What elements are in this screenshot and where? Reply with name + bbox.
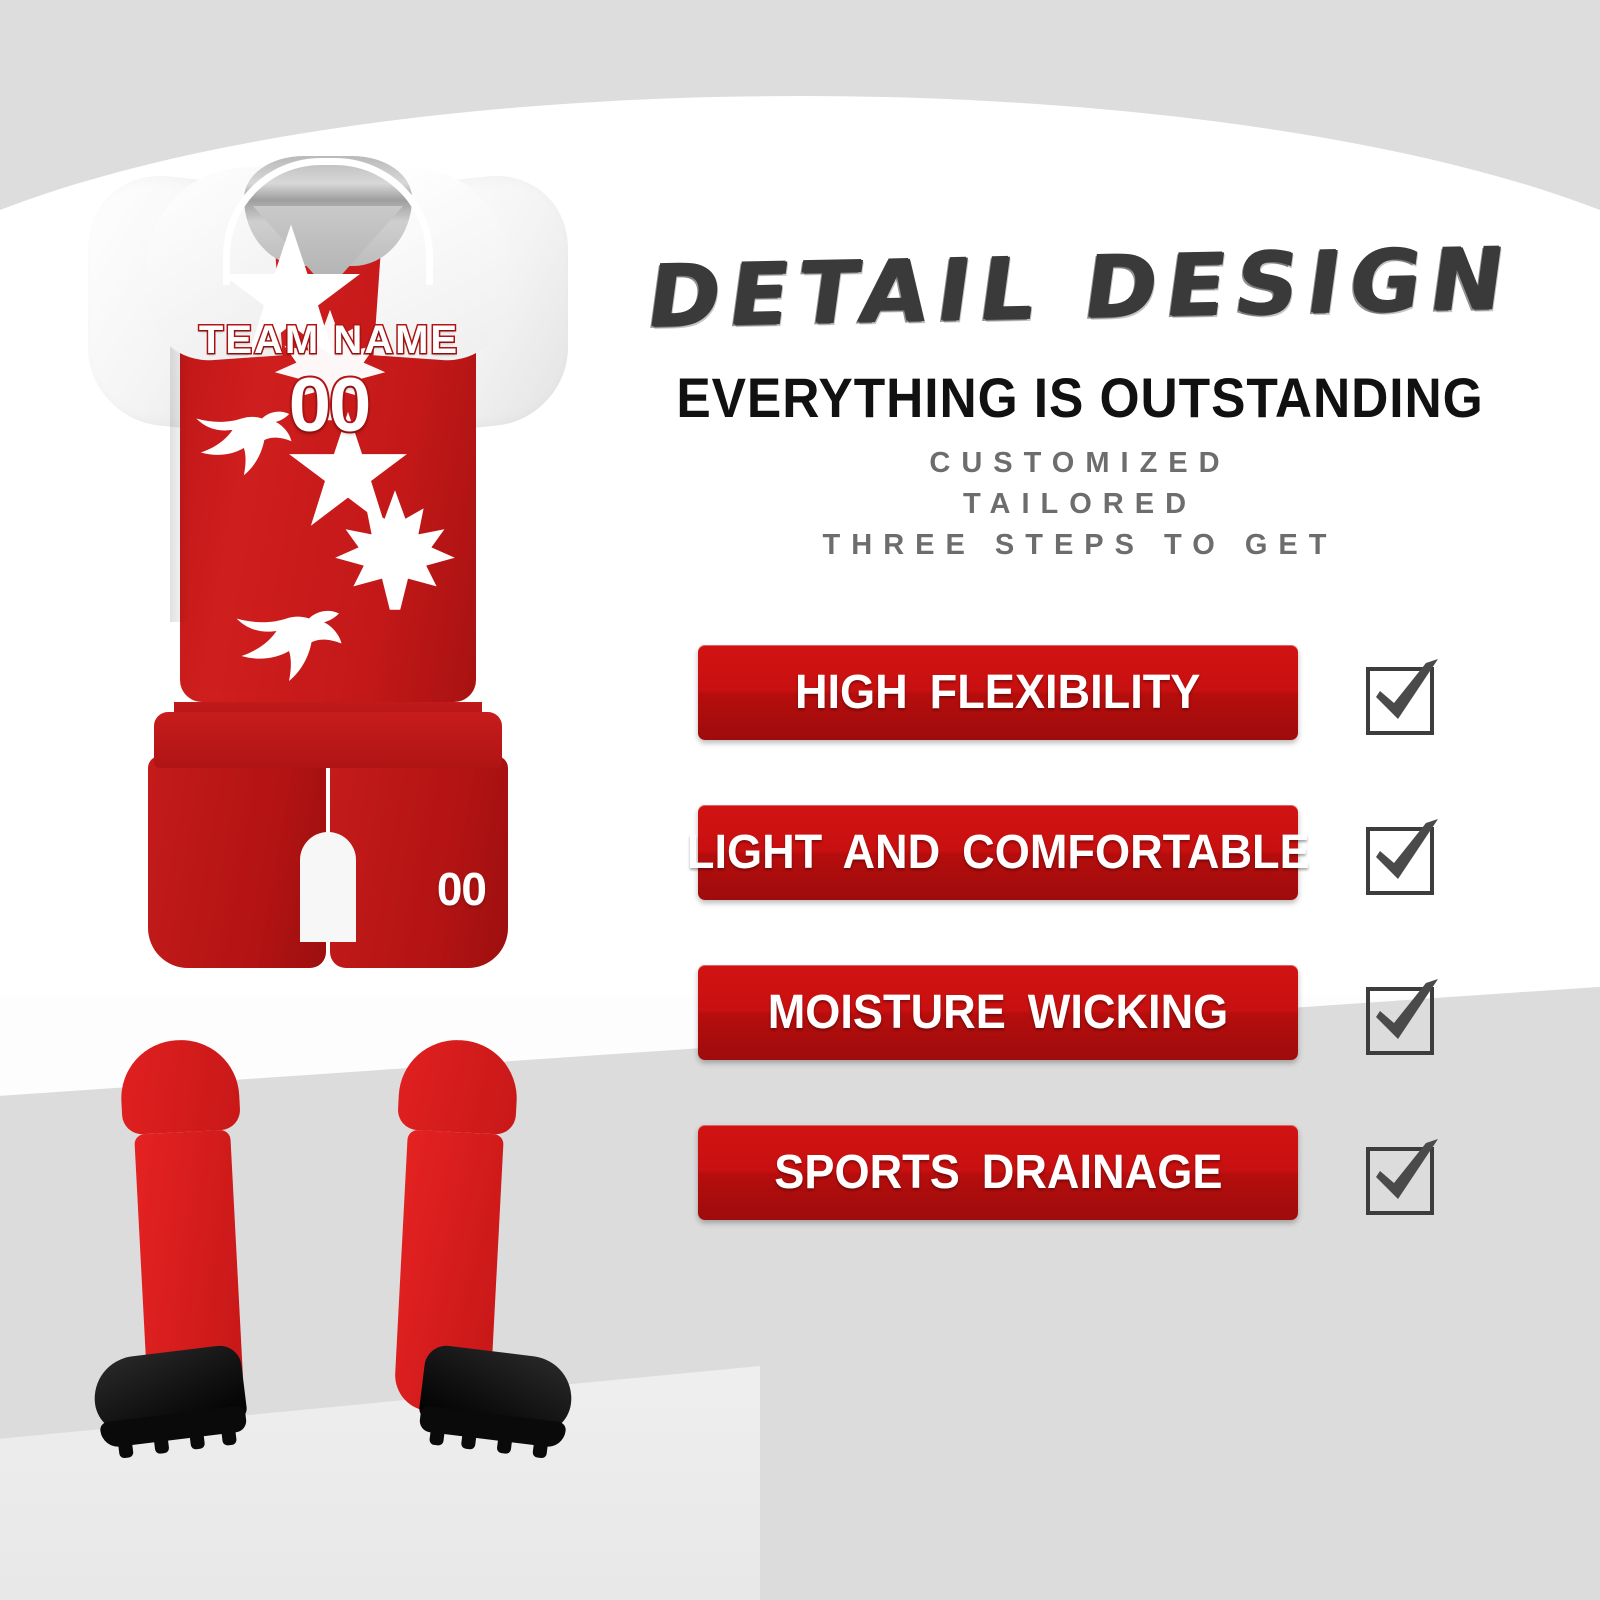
product-marketing-banner: TEAM NAME 00 00 [0,0,1600,1600]
tagline-tailored: TAILORED [640,488,1520,521]
checkmark-glyph [1358,973,1444,1059]
cleat-left [90,1343,252,1470]
jersey-team-name-text: TEAM NAME [184,318,474,363]
checkmark-icon [1358,653,1444,739]
feature-label: SPORTS DRAINAGE [774,1145,1222,1200]
cleat-right [414,1343,576,1470]
page-title: DETAIL DESIGN [632,229,1528,347]
checkmark-glyph [1358,653,1444,739]
shorts-waistband [154,712,502,768]
feature-banner-moisture-wicking[interactable]: MOISTURE WICKING [698,965,1298,1060]
cleat-stud [154,1437,170,1455]
checkmark-glyph [1358,813,1444,899]
checkmark-glyph [1358,1133,1444,1219]
feature-item: MOISTURE WICKING [698,965,1528,1060]
feature-item: SPORTS DRAINAGE [698,1125,1528,1220]
feature-item: LIGHT AND COMFORTABLE [698,805,1528,900]
feature-label: LIGHT AND COMFORTABLE [687,825,1310,880]
jersey-mockup: TEAM NAME 00 [88,150,568,730]
checkmark-icon [1358,813,1444,899]
cleat-stud [496,1437,512,1455]
sock-cuff [397,1037,520,1135]
cleat-stud [189,1432,205,1450]
feature-item: HIGH FLEXIBILITY [698,645,1528,740]
feature-label: MOISTURE WICKING [768,985,1229,1040]
dove-icon [234,598,384,704]
info-panel: DETAIL DESIGN EVERYTHING IS OUTSTANDING … [640,0,1600,1600]
feature-list: HIGH FLEXIBILITY LIGHT AND COMFORTABLE [698,645,1528,1285]
cleat-stud [118,1441,134,1459]
tagline-three-steps: THREE STEPS TO GET [640,529,1520,562]
shorts-number-text: 00 [437,862,486,916]
jersey-number-text: 00 [184,362,474,449]
cleat-stud [221,1428,237,1446]
feature-banner-high-flexibility[interactable]: HIGH FLEXIBILITY [698,645,1298,740]
page-subtitle: EVERYTHING IS OUTSTANDING [675,365,1485,430]
feature-banner-sports-drainage[interactable]: SPORTS DRAINAGE [698,1125,1298,1220]
checkmark-icon [1358,973,1444,1059]
cleat-stud [429,1428,445,1446]
tagline-customized: CUSTOMIZED [640,447,1520,480]
feature-label: HIGH FLEXIBILITY [795,665,1200,720]
cleat-stud [532,1441,548,1459]
cleat-stud [461,1432,477,1450]
shorts-inseam-gap [300,832,356,942]
shorts-mockup: 00 [148,712,508,972]
product-image-group: TEAM NAME 00 00 [0,0,660,1600]
feature-banner-light-and-comfortable[interactable]: LIGHT AND COMFORTABLE [698,805,1298,900]
sock-cuff [118,1037,241,1135]
checkmark-icon [1358,1133,1444,1219]
